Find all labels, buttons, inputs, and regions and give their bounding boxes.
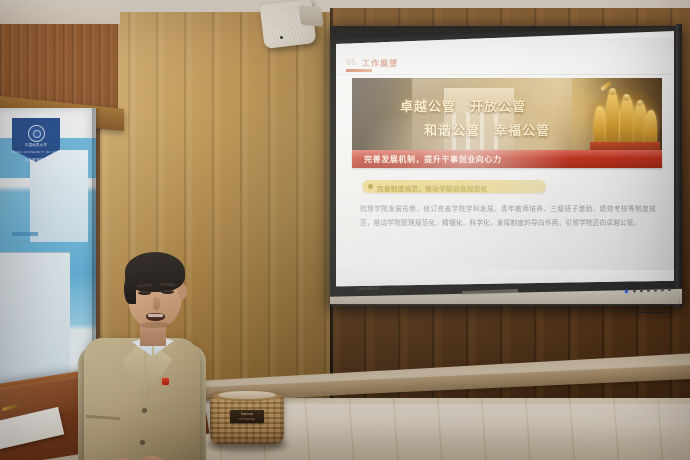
bin-label-line-2: STORAGE [233,417,261,421]
interactive-display[interactable]: 05 工作展望 [330,26,682,306]
sign-accent-bar-small [12,240,28,243]
chin-shadow [140,322,170,328]
coat-button-2 [140,440,145,445]
display-power-cable [636,296,680,313]
display-screen[interactable]: 05 工作展望 [336,26,674,306]
slide-body-paragraph: 梳理学院发展形势，修订完善学院学科发展、青年教师培养、三级班子激励、绩效考核等制… [360,203,656,230]
slide-header-rule [336,74,674,75]
golden-statue-artwork [584,80,662,150]
bin-liner-bag [218,391,276,399]
slide-section-label: 工作展望 [362,58,398,69]
coat-button-1 [142,408,147,413]
statue-base [590,142,660,150]
sign-accent-bar [12,232,38,236]
slide-hero-banner: 卓越公管 开放公管 和谐公管 幸福公管 [352,78,662,150]
party-pin-badge [162,378,169,385]
slide-section-number: 05 [346,58,356,67]
display-right-frame [676,24,682,308]
display-button-up[interactable] [668,288,671,291]
bin-label-line-1: Natural [233,412,261,416]
presentation-slide: 05 工作展望 [336,38,674,270]
eye-right [161,290,174,294]
nose [153,297,160,310]
speaker-mount-bracket [299,5,324,27]
bullet-dot-icon [368,184,373,189]
presentation-room-photo: 中国地质大学 CHINA UNIVERSITY OF GEOSCIENCES 公… [0,0,690,460]
display-button-power[interactable] [633,289,636,292]
display-button-menu[interactable] [647,289,650,292]
slide-subheading-text: 完善制度规范，推动学院治理规范化 [377,183,487,193]
display-button-vol-down[interactable] [654,289,657,292]
red-banner-text: 完善发展机制，提升干事创业向心力 [364,154,502,165]
ceiling-left-segment [0,0,120,24]
slide-header-accent-bar [346,69,372,72]
display-brand-label: lenovo [358,286,380,293]
presenter [36,140,186,460]
display-button-source[interactable] [640,289,643,292]
presenter-hair-side [124,274,136,304]
power-led-icon [625,290,628,293]
display-button-vol-up[interactable] [661,288,664,291]
hero-headline-line-1: 卓越公管 开放公管 [400,96,526,115]
teeth [148,314,163,317]
eye-left [138,291,151,295]
hero-headline-line-2: 和谐公管 幸福公管 [424,120,550,139]
